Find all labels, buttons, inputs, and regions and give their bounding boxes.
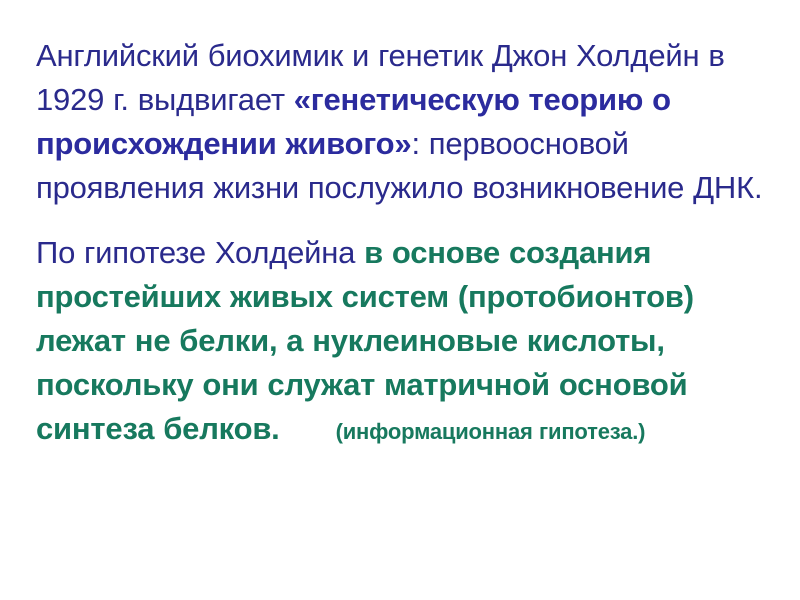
paragraph-2-note-informational-hypothesis: (информационная гипотеза.) — [336, 419, 646, 444]
paragraph-haldane-hypothesis: По гипотезе Холдейна в основе создания п… — [36, 231, 766, 454]
slide-canvas: Английский биохимик и генетик Джон Холде… — [0, 0, 800, 600]
slide-text-content: Английский биохимик и генетик Джон Холде… — [36, 34, 766, 454]
paragraph-haldane-theory: Английский биохимик и генетик Джон Холде… — [36, 34, 766, 210]
paragraph-2-intro-text: По гипотезе Холдейна — [36, 235, 364, 270]
